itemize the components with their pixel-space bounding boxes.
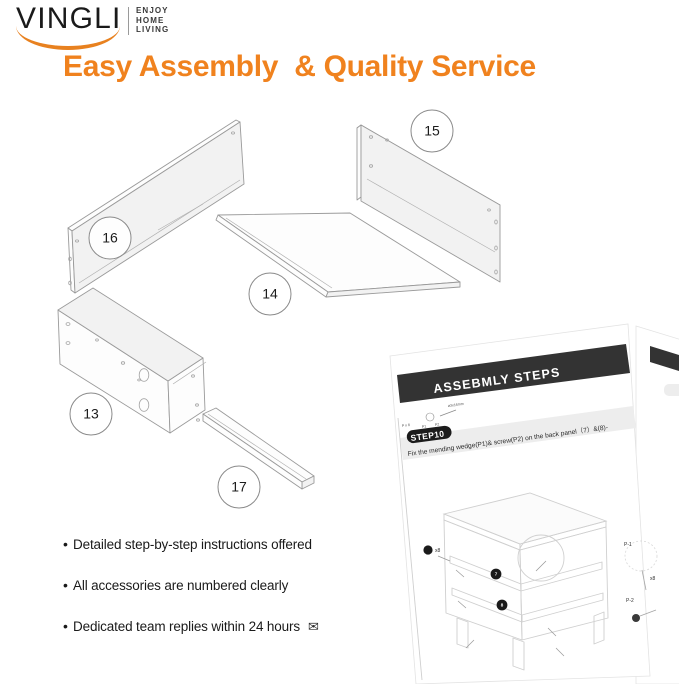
sketch-callout-7: 7 bbox=[491, 569, 502, 580]
callout-14: 14 bbox=[249, 273, 291, 315]
bullet-text: All accessories are numbered clearly bbox=[73, 577, 288, 594]
brand-wordmark: VINGLI bbox=[16, 4, 122, 34]
brand-tagline-line-2: HOME bbox=[136, 16, 169, 26]
callout-17-label: 17 bbox=[231, 479, 247, 495]
svg-text:P-2: P-2 bbox=[626, 598, 634, 604]
manual-main-page: ASSEBMLY STEPS P x 8 P1 P2 ø3x16mm Fix t… bbox=[390, 324, 657, 684]
sketch-callout-8: 8 bbox=[497, 600, 508, 611]
logo-divider bbox=[128, 7, 129, 35]
legend-p2: P2 bbox=[435, 422, 440, 427]
callout-17: 17 bbox=[218, 466, 260, 508]
svg-text:x8: x8 bbox=[435, 548, 441, 554]
list-item: • Detailed step-by-step instructions off… bbox=[63, 536, 393, 553]
list-item: • All accessories are numbered clearly bbox=[63, 577, 393, 594]
callout-15: 15 bbox=[411, 110, 453, 152]
bullet-dot-icon: • bbox=[63, 536, 73, 553]
bullet-dot-icon: • bbox=[63, 577, 73, 594]
callout-15-label: 15 bbox=[424, 123, 440, 139]
brand-logo: VINGLI ENJOY HOME LIVING bbox=[16, 4, 186, 44]
brand-tagline-line-1: ENJOY bbox=[136, 6, 169, 16]
page-title: Easy Assembly & Quality Service bbox=[63, 50, 536, 84]
bullet-text: Detailed step-by-step instructions offer… bbox=[73, 536, 312, 553]
callout-16-label: 16 bbox=[102, 230, 118, 246]
part-16-shape bbox=[68, 120, 244, 293]
callout-13: 13 bbox=[70, 393, 112, 435]
instruction-manual-photo: ASSEBMLY STEPS P x 8 P1 P2 ø3x16mm Fix t… bbox=[378, 318, 679, 684]
brand-tagline: ENJOY HOME LIVING bbox=[136, 6, 169, 35]
callout-16: 16 bbox=[89, 217, 131, 259]
brand-tagline-line-3: LIVING bbox=[136, 25, 169, 35]
feature-bullet-list: • Detailed step-by-step instructions off… bbox=[63, 536, 393, 659]
list-item: • Dedicated team replies within 24 hours… bbox=[63, 618, 393, 635]
svg-text:x8: x8 bbox=[650, 576, 656, 582]
envelope-icon: ✉ bbox=[308, 618, 319, 635]
part-17-shape bbox=[203, 408, 314, 489]
svg-text:P-1: P-1 bbox=[624, 542, 632, 548]
legend-p1: P1 bbox=[422, 424, 427, 429]
bullet-dot-icon: • bbox=[63, 618, 73, 635]
callout-13-label: 13 bbox=[83, 406, 99, 422]
callout-14-label: 14 bbox=[262, 286, 278, 302]
bullet-text: Dedicated team replies within 24 hours bbox=[73, 618, 300, 635]
product-infographic: VINGLI ENJOY HOME LIVING Easy Assembly &… bbox=[0, 0, 679, 684]
